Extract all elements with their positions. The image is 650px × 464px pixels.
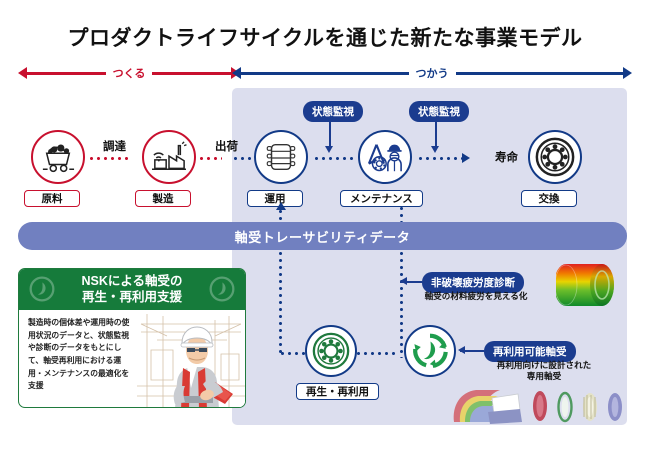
worker-with-tablet-illustration [137, 310, 245, 408]
connector-reuse-to-recycle [355, 352, 397, 355]
badge-connector-line [435, 120, 437, 147]
phase-line [27, 72, 106, 75]
arrow-head-left [232, 67, 241, 79]
nsk-box-body: 製造時の個体差や運用時の使用状況のデータと、状態監視や診断のデータをもとにして、… [19, 310, 245, 408]
leaf-recycle-watermark-icon [28, 275, 56, 303]
rollers-icon [262, 139, 300, 175]
connector-trace-to-reuse [279, 250, 282, 354]
connector-label-procure: 調達 [103, 138, 126, 154]
badge-condition-monitoring-operation[interactable]: 状態監視 [303, 101, 363, 122]
node-icon-operation [254, 130, 308, 184]
nsk-support-box: NSKによる軸受の 再生・再利用支援 製造時の個体差や運用時の使用状況のデータと… [18, 268, 246, 408]
phase-label-use: つかう [409, 65, 456, 81]
leaf-recycle-watermark-icon [208, 275, 236, 303]
factory-icon [150, 140, 188, 174]
worker-bearing-icon [365, 139, 405, 175]
callout-arrow-reusable [458, 346, 465, 354]
node-label-maintenance: メンテナンス [340, 190, 423, 207]
connector-manufacture-to-operation-blue [232, 157, 254, 160]
green-bearing-icon [311, 331, 351, 371]
node-icon-recycle-leaf [404, 325, 456, 377]
nsk-header-line2: 再生・再利用支援 [81, 290, 182, 306]
connector-operation-to-maintenance [313, 157, 357, 160]
connector-label-ship: 出荷 [215, 138, 238, 154]
badge-connector-line [329, 120, 331, 147]
node-icon-manufacture [142, 130, 196, 184]
exploded-bearing-parts-icon [448, 382, 628, 428]
bearing-icon [534, 136, 576, 178]
arrow-head-lifespan [462, 153, 470, 163]
connector-reuse-inbound [279, 352, 305, 355]
callout-arrow-diagnosis [400, 277, 407, 285]
nsk-illustration [137, 310, 245, 408]
connector-maintenance-to-replace [417, 157, 462, 160]
connector-manufacture-to-operation-red [198, 157, 222, 160]
page-title: プロダクトライフサイクルを通じた新たな事業モデル [0, 22, 650, 52]
phase-arrow-make: つくる [18, 62, 240, 84]
node-label-manufacture: 製造 [135, 190, 191, 207]
callout-sub-reusable: 再利用向けに設計された 専用軸受 [474, 360, 614, 381]
badge-arrow-head [325, 146, 333, 153]
phase-line [241, 72, 409, 75]
node-label-material: 原料 [24, 190, 80, 207]
traceability-bar: 軸受トレーサビリティデータ [18, 222, 627, 250]
connector-label-lifespan: 寿命 [495, 149, 518, 165]
infographic-canvas: プロダクトライフサイクルを通じた新たな事業モデル つくる つかう 調達 出荷 寿… [0, 0, 650, 464]
nsk-header-line1: NSKによる軸受の [81, 274, 182, 290]
arrow-head-left [18, 67, 27, 79]
recycle-leaf-icon [410, 331, 450, 371]
phase-label-make: つくる [106, 65, 153, 81]
callout-sub-diagnosis: 軸受の材料疲労を見える化 [420, 291, 532, 302]
connector-maintenance-to-recycle [400, 250, 403, 358]
arrow-head-up-operation [276, 202, 286, 210]
node-label-replace: 交換 [521, 190, 577, 207]
callout-label-reusable[interactable]: 再利用可能軸受 [484, 341, 576, 362]
callout-sub-reusable-line1: 再利用向けに設計された [474, 360, 614, 371]
thermal-gradient-ring-icon [556, 256, 632, 314]
nsk-box-header: NSKによる軸受の 再生・再利用支援 [19, 269, 245, 310]
node-icon-reuse [305, 325, 357, 377]
node-label-operation: 運用 [247, 190, 303, 207]
connector-material-to-manufacture [88, 157, 130, 160]
badge-arrow-head [431, 146, 439, 153]
badge-condition-monitoring-maintenance[interactable]: 状態監視 [409, 101, 469, 122]
callout-label-diagnosis[interactable]: 非破壊疲労度診断 [422, 272, 524, 293]
node-icon-replace [528, 130, 582, 184]
phase-line [152, 72, 231, 75]
nsk-description-text: 製造時の個体差や運用時の使用状況のデータと、状態監視や診断のデータをもとにして、… [19, 310, 137, 408]
node-label-reuse: 再生・再利用 [296, 383, 379, 400]
node-icon-material [31, 130, 85, 184]
arrow-head-right [623, 67, 632, 79]
callout-sub-reusable-line2: 専用軸受 [474, 371, 614, 382]
node-icon-maintenance [358, 130, 412, 184]
ore-cart-icon [39, 140, 77, 174]
phase-line [456, 72, 624, 75]
phase-arrow-use: つかう [232, 62, 632, 84]
